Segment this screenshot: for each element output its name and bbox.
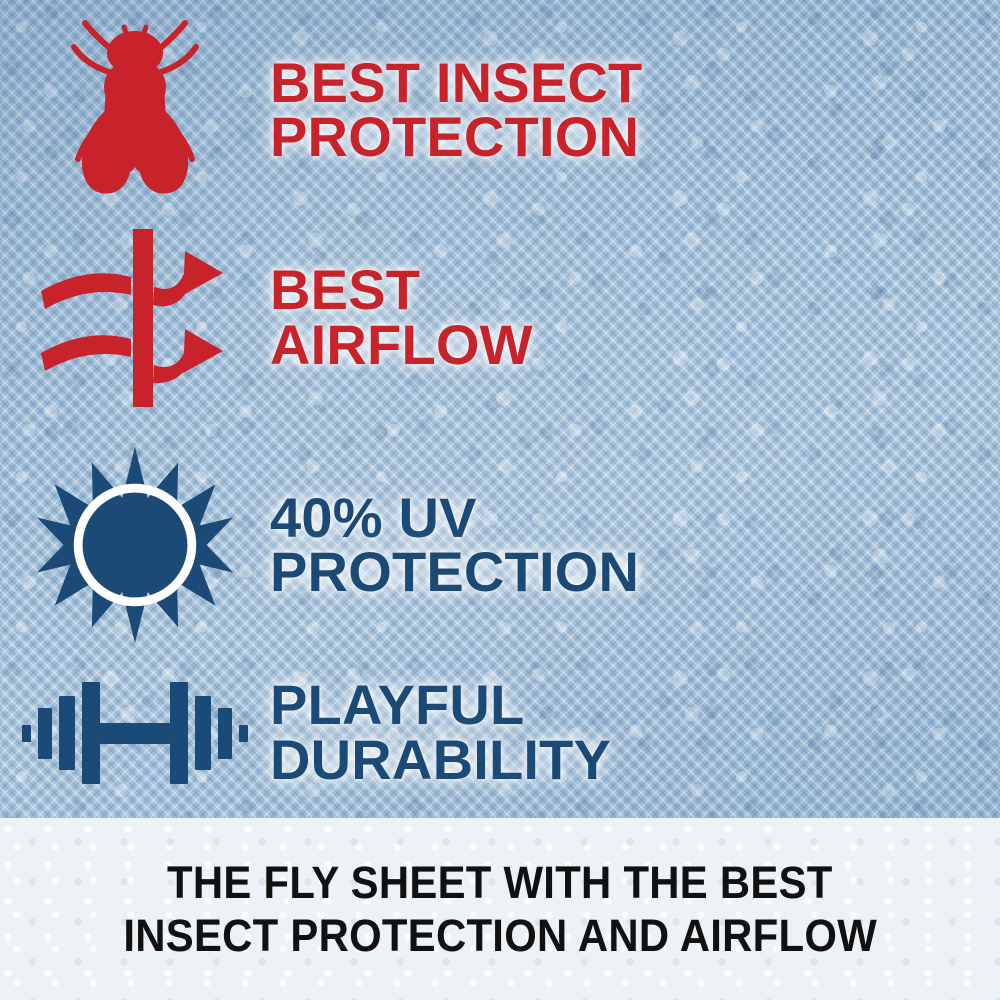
airflow-arrows-icon <box>35 225 235 410</box>
banner-headline-line: THE FLY SHEET WITH THE BEST <box>167 856 833 909</box>
feature-icon-cell <box>0 15 270 205</box>
feature-line: BEST <box>270 263 1000 317</box>
feature-line: PLAYFUL <box>270 678 1000 732</box>
feature-line: 40% UV <box>270 491 1000 545</box>
feature-line: BEST INSECT <box>270 56 1000 110</box>
sun-burst-icon <box>37 447 233 643</box>
fly-icon <box>60 15 210 205</box>
feature-line: DURABILITY <box>270 733 1000 787</box>
feature-text-cell: BEST INSECT PROTECTION <box>270 56 1000 165</box>
feature-line: AIRFLOW <box>270 318 1000 372</box>
feature-row-uv-protection: 40% UV PROTECTION <box>0 440 1000 650</box>
feature-icon-cell <box>0 225 270 410</box>
feature-row-airflow: BEST AIRFLOW <box>0 215 1000 420</box>
dumbbell-icon <box>20 668 250 798</box>
banner-headline-line: INSECT PROTECTION AND AIRFLOW <box>123 909 877 962</box>
feature-text-cell: BEST AIRFLOW <box>270 263 1000 372</box>
feature-text-cell: 40% UV PROTECTION <box>270 491 1000 600</box>
feature-text-cell: PLAYFUL DURABILITY <box>270 678 1000 787</box>
feature-line: PROTECTION <box>270 110 1000 164</box>
feature-icon-cell <box>0 447 270 643</box>
bottom-banner: THE FLY SHEET WITH THE BEST INSECT PROTE… <box>0 818 1000 1000</box>
feature-row-insect-protection: BEST INSECT PROTECTION <box>0 10 1000 210</box>
feature-icon-cell <box>0 668 270 798</box>
product-feature-poster: BEST INSECT PROTECTION <box>0 0 1000 1000</box>
feature-line: PROTECTION <box>270 545 1000 599</box>
feature-row-durability: PLAYFUL DURABILITY <box>0 645 1000 820</box>
